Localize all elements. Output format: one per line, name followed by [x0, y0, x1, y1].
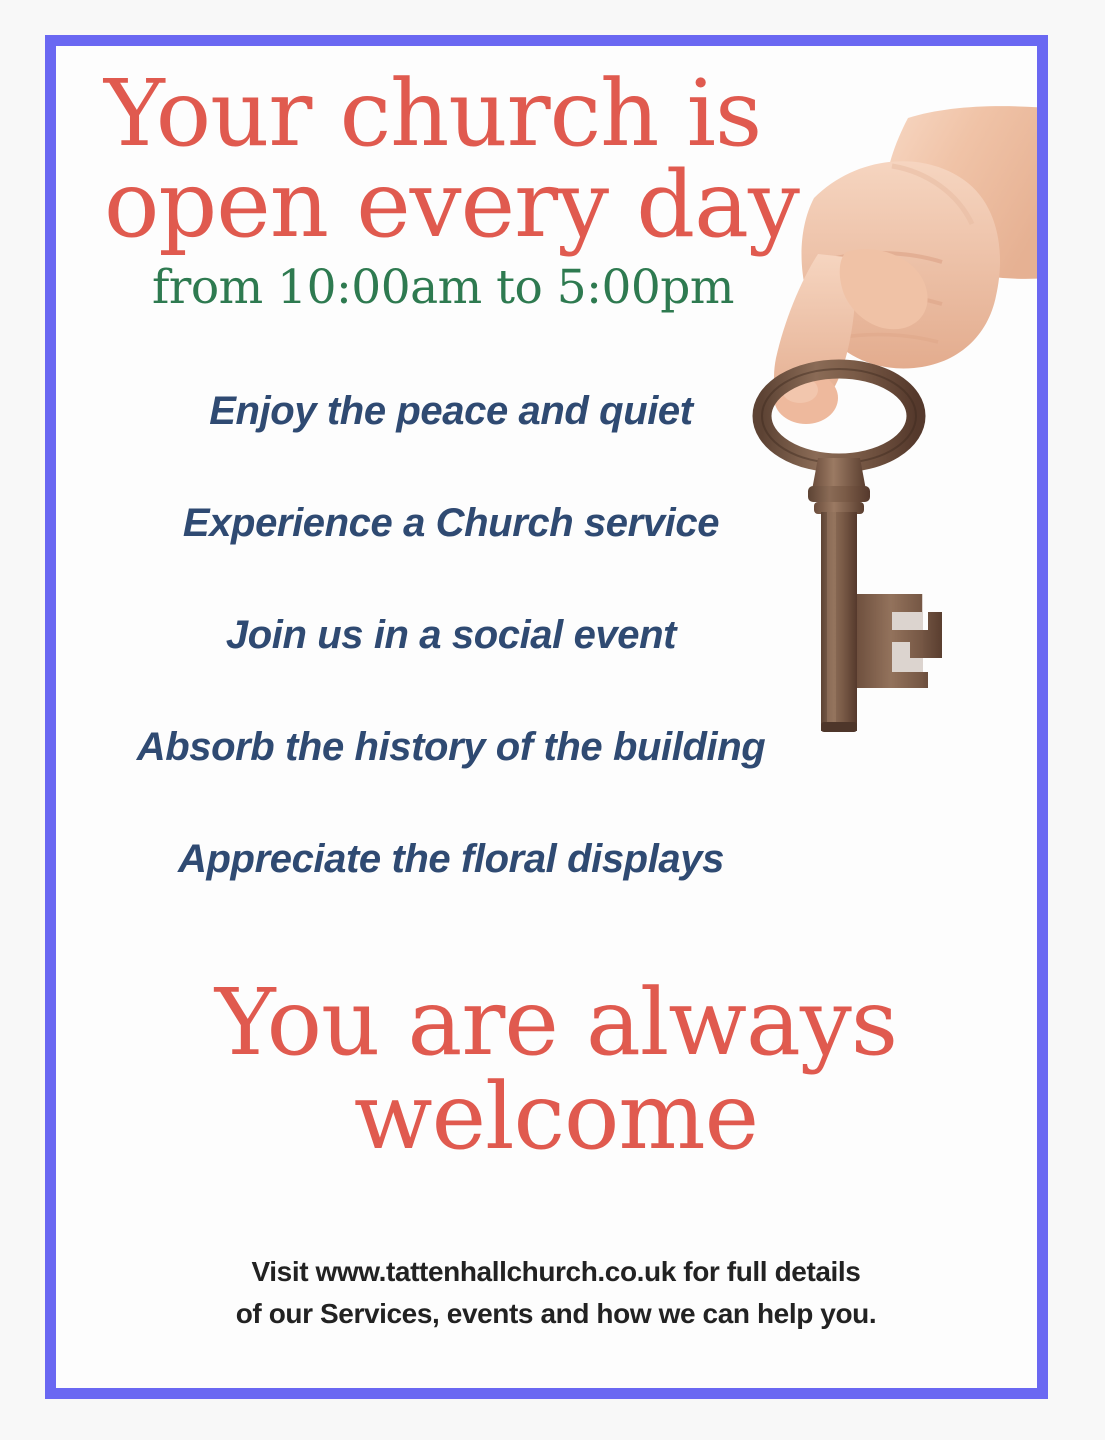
closing-statement: You are always welcome	[96, 976, 1016, 1164]
forearm-shape	[885, 106, 1048, 279]
footer-contact-text: Visit www.tattenhallchurch.co.uk for ful…	[96, 1251, 1016, 1335]
poster-inner-surface: Your church is open every day from 10:00…	[56, 46, 1037, 1388]
benefit-item-2: Experience a Church service	[183, 503, 719, 543]
opening-hours-subtitle: from 10:00am to 5:00pm	[152, 264, 852, 311]
poster-headline: Your church is open every day	[104, 68, 834, 250]
benefit-item-1: Enjoy the peace and quiet	[209, 391, 692, 431]
footer-line-2: of our Services, events and how we can h…	[96, 1293, 1016, 1335]
benefits-list: Enjoy the peace and quiet Experience a C…	[56, 391, 846, 879]
benefit-item-3: Join us in a social event	[226, 615, 676, 655]
thumb-shape	[840, 249, 928, 329]
poster-canvas: Your church is open every day from 10:00…	[0, 0, 1105, 1440]
closing-line-2: welcome	[96, 1070, 1016, 1164]
closing-line-1: You are always	[215, 969, 897, 1076]
footer-line-1: Visit www.tattenhallchurch.co.uk for ful…	[252, 1256, 861, 1287]
benefit-item-5: Appreciate the floral displays	[178, 839, 724, 879]
benefit-item-4: Absorb the history of the building	[137, 727, 766, 767]
poster-border-frame: Your church is open every day from 10:00…	[45, 35, 1048, 1399]
headline-line-2: open every day	[104, 159, 834, 250]
